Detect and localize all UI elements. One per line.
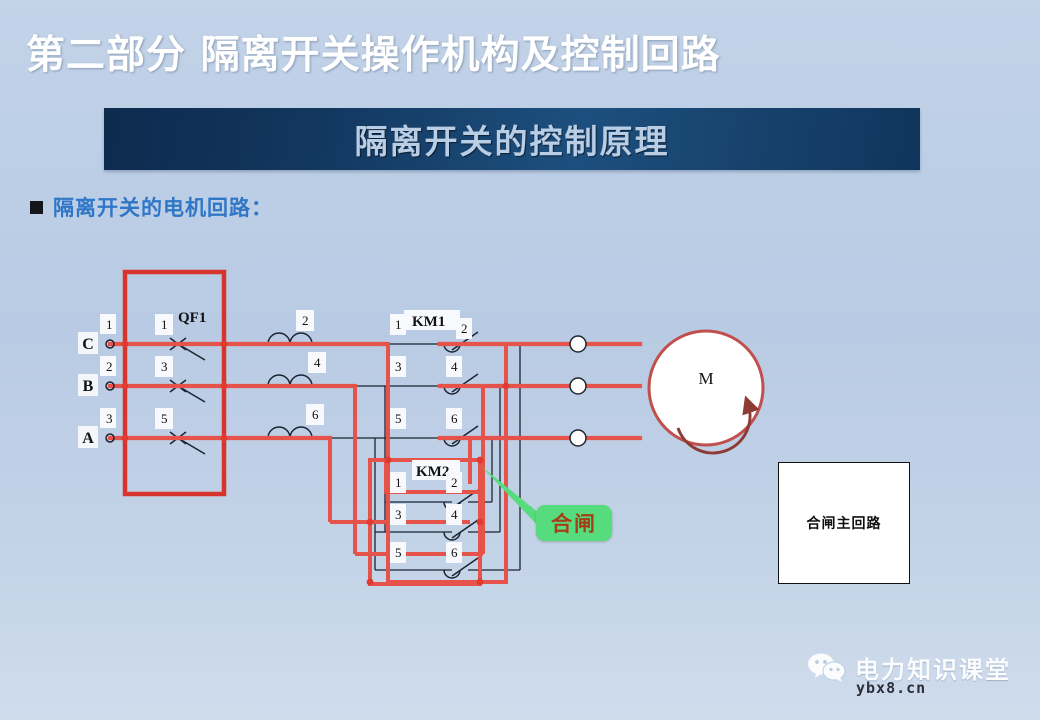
wechat-icon [806, 652, 848, 684]
section-banner: 隔离开关的控制原理 [104, 108, 920, 170]
motor-terminals [570, 336, 586, 446]
callout-close-command: 合闸 [536, 505, 612, 541]
bullet-label: 隔离开关的电机回路： [53, 192, 273, 222]
incoming-terminal-2: 2 [106, 359, 113, 374]
qf1-label-group: QF1 [178, 310, 206, 326]
main-circuit-box-label: 合闸主回路 [807, 513, 882, 533]
phase-label-b: B [83, 378, 94, 395]
phase-labels: C B A [78, 332, 98, 448]
km1-in-1: 1 [395, 317, 402, 332]
qf1-in-3: 3 [161, 359, 168, 374]
motor-label: M [698, 369, 713, 388]
km2-out-4: 4 [451, 507, 458, 522]
km1-out-4: 4 [451, 359, 458, 374]
motor-symbol: M [649, 331, 763, 453]
km2-label: KM2 [416, 464, 449, 480]
qf1-out-6: 6 [312, 407, 319, 422]
km1-out-2: 2 [461, 321, 468, 336]
km1-in-5: 5 [395, 411, 402, 426]
incoming-terminal-numbers: 1 2 3 [100, 314, 116, 428]
phase-label-c: C [82, 336, 94, 353]
km2-out-6: 6 [451, 545, 458, 560]
highlighted-current-path [110, 344, 640, 438]
bullet-item: 隔离开关的电机回路： [30, 192, 273, 222]
watermark-url: ybx8.cn [856, 679, 926, 697]
page-title: 第二部分 隔离开关操作机构及控制回路 [26, 24, 721, 80]
qf1-out-2: 2 [302, 313, 309, 328]
main-circuit-box: 合闸主回路 [778, 462, 910, 584]
km1-out-6: 6 [451, 411, 458, 426]
incoming-terminal-3: 3 [106, 411, 113, 426]
km2-terminal-numbers: 1 2 3 4 5 6 [390, 472, 462, 563]
square-bullet-icon [30, 201, 43, 214]
qf1-out-4: 4 [314, 355, 321, 370]
km1-label: KM1 [412, 314, 445, 330]
qf1-label: QF1 [178, 310, 206, 326]
phase-label-a: A [82, 430, 94, 447]
km2-in-1: 1 [395, 475, 402, 490]
qf1-in-1: 1 [161, 317, 168, 332]
banner-title: 隔离开关的控制原理 [104, 115, 920, 163]
qf1-terminal-numbers: 1 2 3 4 5 6 [155, 310, 326, 429]
callout-label: 合闸 [551, 508, 597, 538]
km1-in-3: 3 [395, 359, 402, 374]
incoming-terminal-1: 1 [106, 317, 113, 332]
km2-in-5: 5 [395, 545, 402, 560]
slide-root: 第二部分 隔离开关操作机构及控制回路 隔离开关的控制原理 隔离开关的电机回路： [0, 0, 1040, 720]
qf1-in-5: 5 [161, 411, 168, 426]
km2-in-3: 3 [395, 507, 402, 522]
km2-contacts [444, 490, 478, 578]
km1-label-group: KM1 [404, 310, 460, 330]
km1-terminal-numbers: 1 2 3 4 5 6 [390, 314, 472, 429]
km2-out-2: 2 [451, 475, 458, 490]
